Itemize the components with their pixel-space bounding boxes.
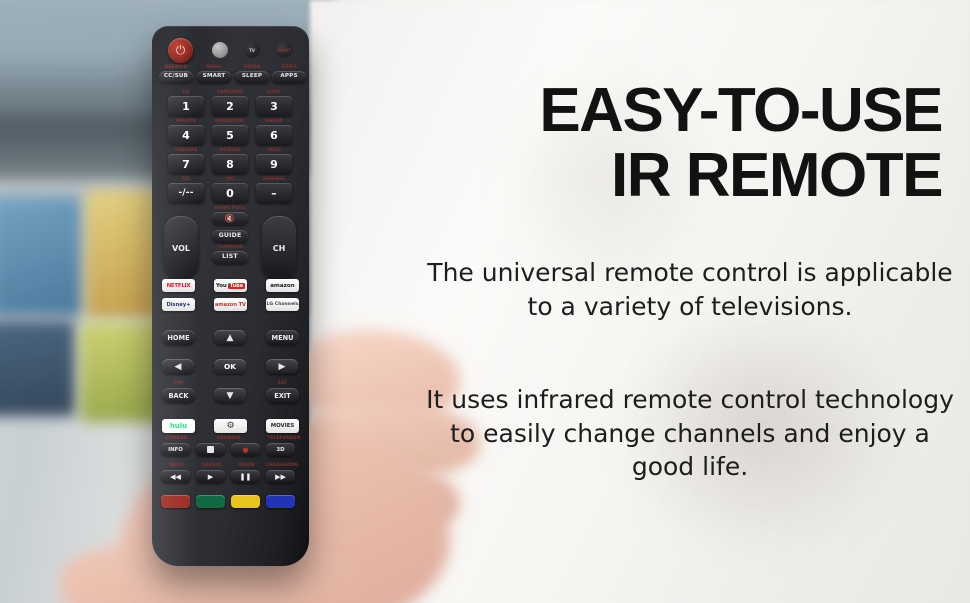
yellow-key[interactable] [231, 495, 260, 508]
key-0[interactable]: 0 [212, 183, 248, 203]
tv-tile [0, 320, 76, 416]
lg-channels-app-button[interactable]: LG Channels [266, 298, 299, 311]
brand-label: JVC [210, 177, 250, 182]
brand-label: PANASONIC [210, 119, 250, 124]
netflix-app-button[interactable]: NETFLIX [162, 279, 195, 292]
brand-label: HISENSE [254, 177, 294, 182]
apps-button[interactable]: APPS [272, 71, 306, 83]
smart-button[interactable]: SMART [197, 71, 231, 83]
description-paragraph-2: It uses infrared remote control technolo… [420, 383, 960, 484]
brand-label: LG [166, 90, 206, 95]
tv-tile [86, 190, 160, 318]
page-title: EASY-TO-USE IR REMOTE [442, 78, 942, 208]
brand-label: DAEWOO [158, 65, 194, 70]
back-button[interactable]: BACK [162, 388, 195, 403]
brand-label: ORION [230, 463, 263, 468]
brand-label: SANSUI [195, 463, 228, 468]
blue-key[interactable] [266, 495, 295, 508]
settings-button[interactable]: ⚙ [214, 419, 247, 433]
amazon-tv-app-button[interactable]: amazon TV [214, 298, 247, 311]
brand-label: SAMSUNG [210, 90, 250, 95]
brand-label: MENU [196, 65, 232, 70]
key-8[interactable]: 8 [212, 154, 248, 174]
key-2[interactable]: 2 [212, 96, 248, 116]
headline-line-1: EASY-TO-USE [539, 76, 942, 145]
power-icon[interactable]: ⏻ [168, 38, 193, 63]
amazon-app-button[interactable]: amazon [266, 279, 299, 292]
info-button[interactable]: INFO [161, 443, 190, 456]
brand-label: PHILIPS [166, 119, 206, 124]
key-1[interactable]: 1 [168, 96, 204, 116]
brand-label: BEKO [160, 463, 193, 468]
brand-label: VIZIO [254, 148, 294, 153]
right-arrow-icon[interactable]: ▶ [266, 359, 298, 374]
brand-label: ZIFRO [271, 65, 307, 70]
tv-tile [0, 196, 82, 316]
brand-label: CHANGHONG [263, 463, 301, 468]
cc-sub-button[interactable]: CC/SUB [159, 71, 193, 83]
brand-label: GRUNDIG [212, 436, 245, 441]
headline-line-2: IR REMOTE [442, 143, 942, 208]
movies-button[interactable]: MOVIES [266, 419, 299, 433]
brand-label: WHIRLPOOL [205, 206, 255, 211]
description-paragraph-1: The universal remote control is applicab… [420, 256, 960, 323]
up-arrow-icon[interactable]: ▲ [214, 330, 246, 345]
brand-label: CONRAD [160, 436, 193, 441]
sleep-button[interactable]: SLEEP [235, 71, 269, 83]
key-7[interactable]: 7 [168, 154, 204, 174]
left-arrow-icon[interactable]: ◀ [162, 359, 194, 374]
brand-label: TOSHIBA [166, 148, 206, 153]
green-key[interactable] [196, 495, 225, 508]
product-banner: ⏻ TV INPUT DAEWOO MENU PRIMA ZIFRO CC/SU… [0, 0, 970, 603]
exit-button[interactable]: EXIT [266, 388, 299, 403]
play-button[interactable]: ▶ [196, 470, 225, 483]
home-button[interactable]: HOME [162, 330, 195, 345]
brand-label: TELEFUNKEN [264, 436, 304, 441]
volume-rocker[interactable]: VOL [164, 216, 198, 280]
key-3[interactable]: 3 [256, 96, 292, 116]
down-arrow-icon[interactable]: ▼ [214, 388, 246, 403]
mute-icon[interactable]: 🔇 [212, 212, 248, 225]
text-button-icon[interactable] [196, 443, 225, 456]
ir-remote-control: ⏻ TV INPUT DAEWOO MENU PRIMA ZIFRO CC/SU… [152, 26, 309, 566]
brand-label: SONY [254, 90, 294, 95]
brand-label: SHARP [254, 119, 294, 124]
brand-label: TCL [166, 177, 206, 182]
ok-button[interactable]: OK [214, 359, 246, 374]
list-button[interactable]: LIST [212, 251, 248, 264]
brand-label: SAT [266, 381, 299, 386]
disney-plus-app-button[interactable]: Disney+ [162, 298, 195, 311]
key-5[interactable]: 5 [212, 125, 248, 145]
key-dash[interactable]: -/-- [168, 183, 204, 203]
brand-label: PRIMA [234, 65, 270, 70]
red-key[interactable] [161, 495, 190, 508]
indicator-dot [212, 42, 228, 58]
guide-button[interactable]: GUIDE [212, 230, 248, 243]
menu-button[interactable]: MENU [266, 330, 299, 345]
brand-label: HITACHI [210, 148, 250, 153]
channel-rocker[interactable]: CH [262, 216, 296, 280]
brand-label: THOMSON [205, 245, 255, 250]
key-4[interactable]: 4 [168, 125, 204, 145]
hulu-app-button[interactable]: hulu [162, 419, 195, 433]
record-icon[interactable]: ● [231, 443, 260, 456]
youtube-app-button[interactable]: YouTube [214, 279, 247, 292]
key-minus[interactable]: – [256, 183, 292, 203]
brand-label: TOP [162, 381, 195, 386]
fast-forward-button[interactable]: ▶▶ [266, 470, 295, 483]
three-d-button[interactable]: 3D [266, 443, 295, 456]
tv-button[interactable]: TV [244, 42, 260, 58]
rewind-button[interactable]: ◀◀ [161, 470, 190, 483]
marketing-copy: EASY-TO-USE IR REMOTE The universal remo… [420, 0, 960, 603]
key-9[interactable]: 9 [256, 154, 292, 174]
pause-button[interactable]: ❚❚ [231, 470, 260, 483]
key-6[interactable]: 6 [256, 125, 292, 145]
input-button[interactable]: INPUT [276, 42, 292, 58]
